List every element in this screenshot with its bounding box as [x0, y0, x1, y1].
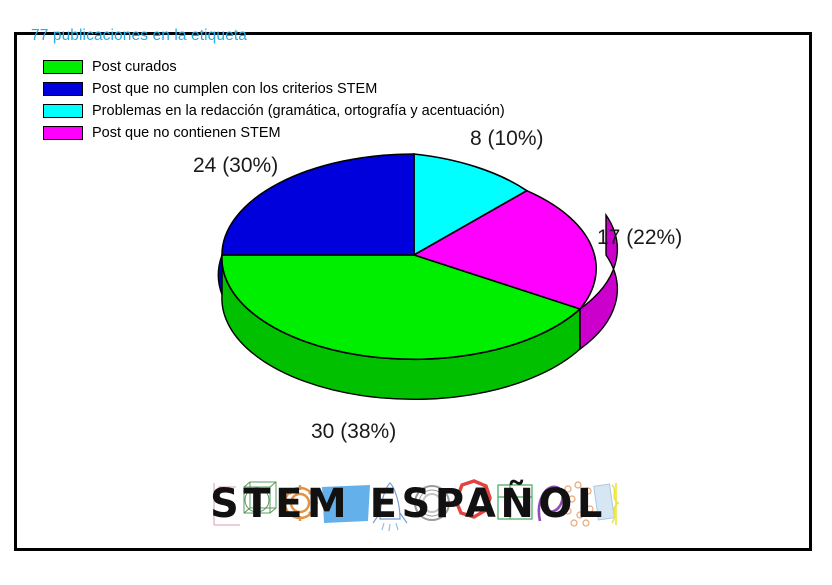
- legend-swatch-green: [43, 60, 83, 74]
- legend-item-problemas-redaccion[interactable]: Problemas en la redacción (gramática, or…: [43, 100, 505, 122]
- pie-label-cyan: 8 (10%): [470, 128, 544, 149]
- legend-label: Post que no cumplen con los criterios ST…: [92, 82, 377, 97]
- legend-label: Post que no contienen STEM: [92, 126, 281, 141]
- legend-swatch-magenta: [43, 126, 83, 140]
- legend-item-no-cumplen-stem[interactable]: Post que no cumplen con los criterios ST…: [43, 78, 505, 100]
- legend-swatch-blue: [43, 82, 83, 96]
- chart-canvas: 77 publicaciones en la etiqueta Post cur…: [0, 0, 832, 585]
- pie-label-blue: 24 (30%): [193, 155, 278, 176]
- stem-espanol-logo: STEM ESPAÑOL: [210, 477, 622, 533]
- legend-label: Post curados: [92, 60, 177, 75]
- legend-item-post-curados[interactable]: Post curados: [43, 56, 505, 78]
- logo-letters: STEM ESPAÑOL: [210, 479, 607, 527]
- legend-label: Problemas en la redacción (gramática, or…: [92, 104, 505, 119]
- pie-label-green: 30 (38%): [311, 421, 396, 442]
- chart-title: 77 publicaciones en la etiqueta: [31, 27, 247, 45]
- chart-legend: Post curados Post que no cumplen con los…: [43, 56, 505, 144]
- pie-label-magenta: 17 (22%): [597, 227, 682, 248]
- legend-swatch-cyan: [43, 104, 83, 118]
- legend-item-no-contienen-stem[interactable]: Post que no contienen STEM: [43, 122, 505, 144]
- logo-svg: STEM ESPAÑOL: [210, 477, 622, 533]
